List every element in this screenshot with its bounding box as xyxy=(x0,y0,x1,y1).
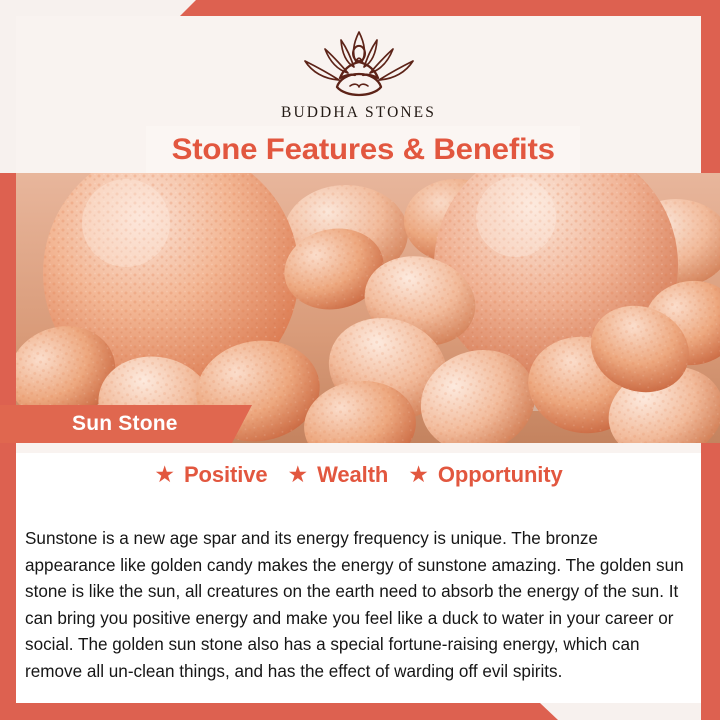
star-icon: ★ xyxy=(154,463,175,486)
poster-root: BUDDHA STONES Stone Features & Benefits xyxy=(0,0,720,720)
brand-logo: BUDDHA STONES xyxy=(16,28,701,122)
brand-name: BUDDHA STONES xyxy=(281,104,436,122)
benefit-item-wealth: ★ Wealth xyxy=(288,462,389,488)
frame-left-accent xyxy=(0,173,16,720)
stone-name-tag: Sun Stone xyxy=(0,405,252,443)
stone-name-label: Sun Stone xyxy=(72,412,178,436)
star-icon: ★ xyxy=(408,463,429,486)
benefit-label: Positive xyxy=(184,462,268,488)
lotus-meditation-icon xyxy=(284,28,434,102)
frame-top-accent xyxy=(0,0,720,16)
product-photo xyxy=(16,173,720,443)
content-card: ★ Positive ★ Wealth ★ Opportunity Sunsto… xyxy=(16,443,701,703)
star-icon: ★ xyxy=(288,463,309,486)
page-title-text: Stone Features & Benefits xyxy=(171,133,554,167)
description-text: Sunstone is a new age spar and its energ… xyxy=(25,525,685,684)
benefit-item-positive: ★ Positive xyxy=(154,462,267,488)
page-title: Stone Features & Benefits xyxy=(146,126,580,173)
benefit-label: Opportunity xyxy=(438,462,563,488)
card-top-strip xyxy=(16,443,701,453)
benefit-item-opportunity: ★ Opportunity xyxy=(408,462,562,488)
sunstone-photo-illustration xyxy=(16,173,720,443)
frame-bottom-accent xyxy=(0,703,560,720)
benefit-label: Wealth xyxy=(317,462,388,488)
benefits-row: ★ Positive ★ Wealth ★ Opportunity xyxy=(16,462,701,488)
